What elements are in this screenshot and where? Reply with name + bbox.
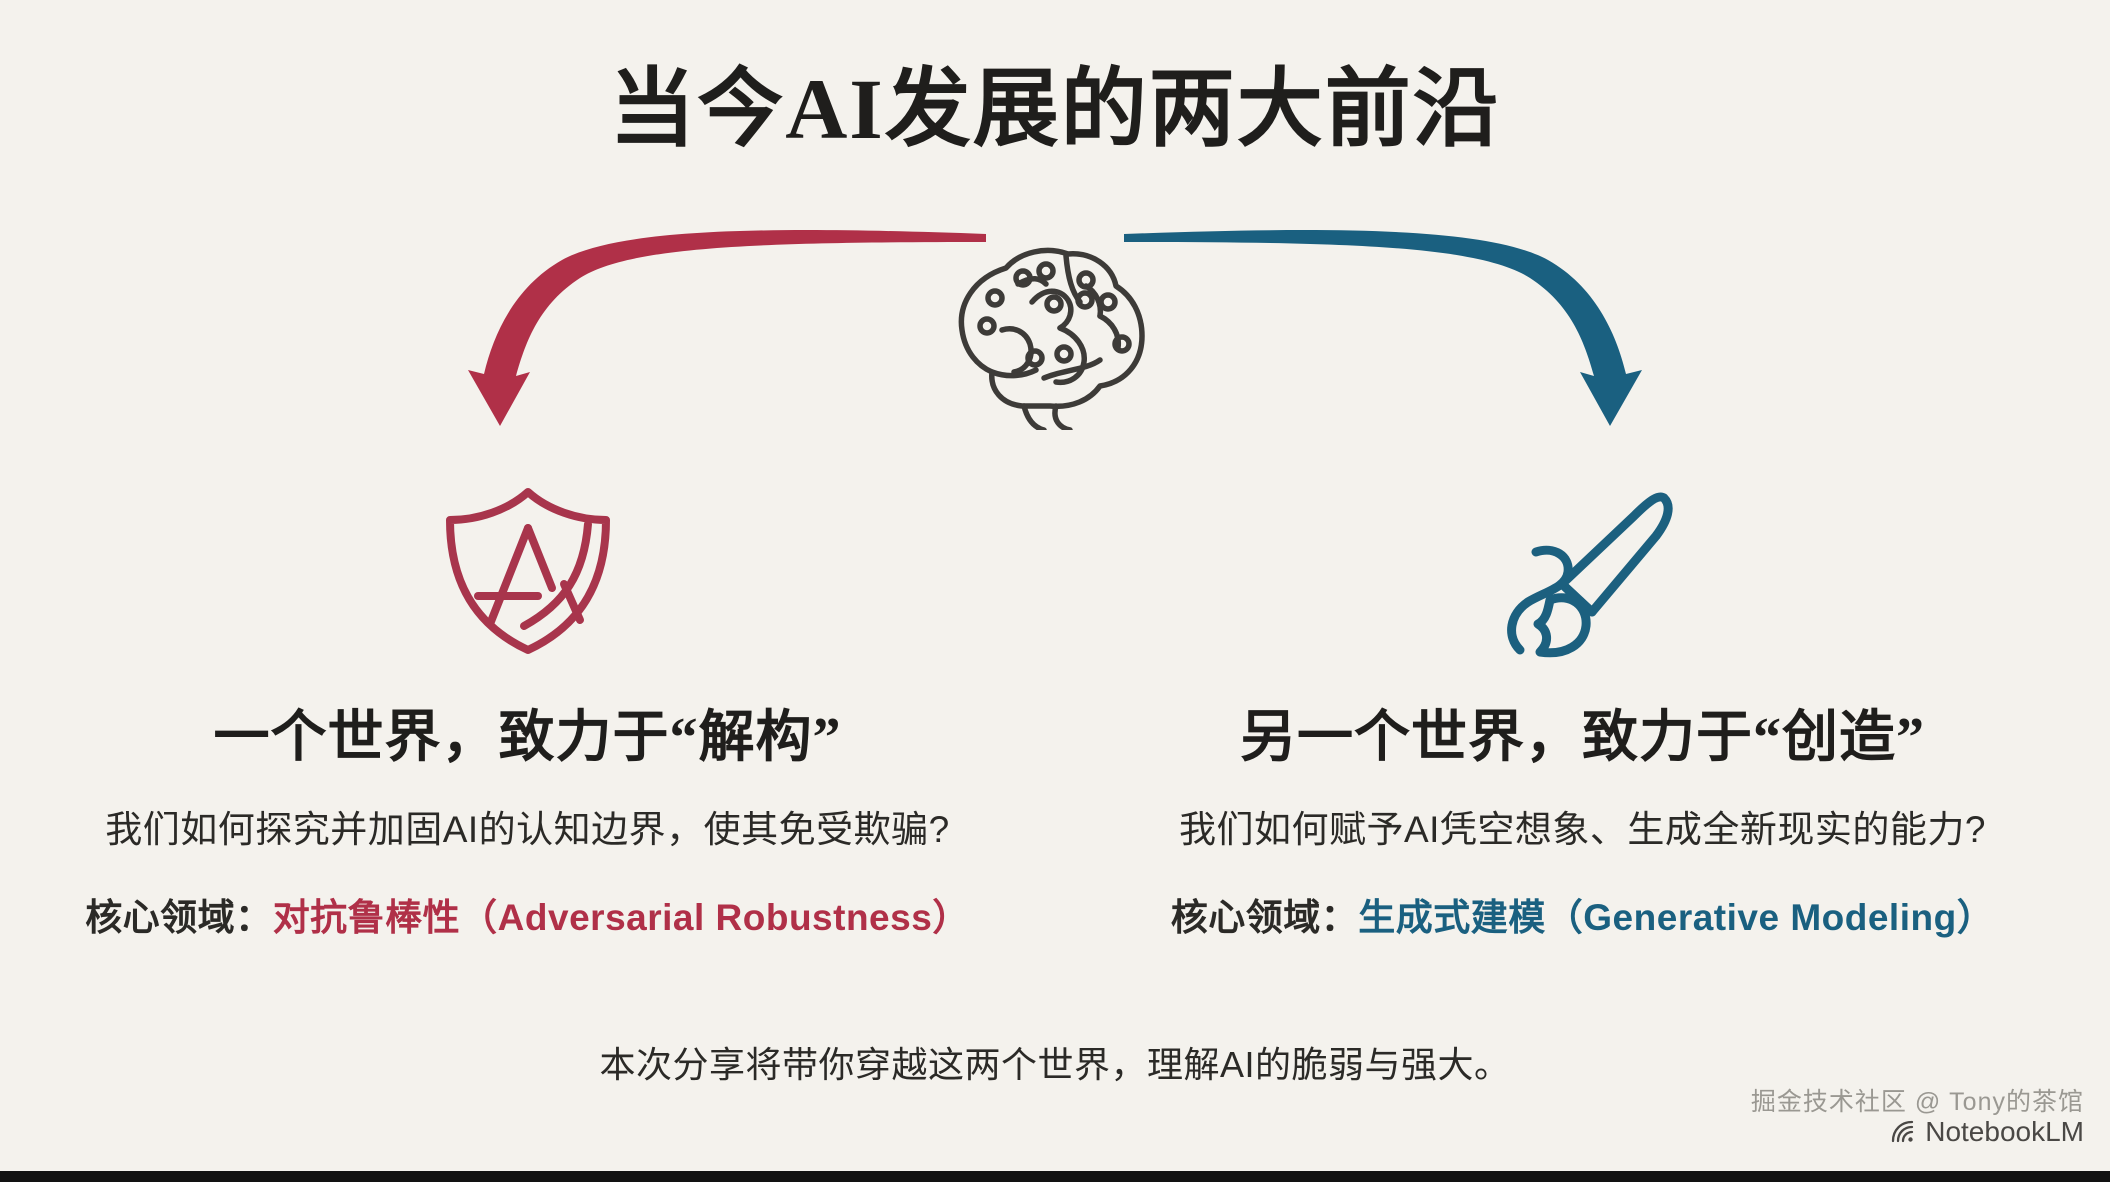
column-creation: 另一个世界，致力于“创造” 我们如何赋予AI凭空想象、生成全新现实的能力? 核心… (1055, 470, 2110, 941)
core-field-value: 生成式建模（Generative Modeling） (1358, 887, 1994, 941)
letterbox-bar (0, 1171, 2110, 1182)
column-heading: 另一个世界，致力于“创造” (1240, 692, 1925, 773)
column-question: 我们如何赋予AI凭空想象、生成全新现实的能力? (1179, 799, 1986, 853)
paintbrush-icon (1488, 470, 1678, 670)
column-core-field: 核心领域： 对抗鲁棒性（Adversarial Robustness） (85, 887, 970, 941)
notebooklm-label: NotebookLM (1925, 1116, 2084, 1148)
curved-arrow-left (430, 220, 990, 450)
notebooklm-badge: NotebookLM (1751, 1116, 2084, 1148)
curved-arrow-right (1120, 220, 1680, 450)
watermark: 掘金技术社区 @ Tony的茶馆 NotebookLM (1751, 1082, 2084, 1148)
core-field-label: 核心领域： (1171, 887, 1359, 941)
core-field-value: 对抗鲁棒性（Adversarial Robustness） (273, 887, 970, 941)
shield-icon (438, 470, 618, 670)
two-column-comparison: 一个世界，致力于“解构” 我们如何探究并加固AI的认知边界，使其免受欺骗? 核心… (0, 470, 2110, 941)
column-core-field: 核心领域： 生成式建模（Generative Modeling） (1171, 887, 1994, 941)
slide-canvas: 当今AI发展的两大前沿 (0, 0, 2110, 1182)
column-heading: 一个世界，致力于“解构” (214, 692, 842, 773)
column-question: 我们如何探究并加固AI的认知边界，使其免受欺骗? (105, 799, 950, 853)
slide-caption: 本次分享将带你穿越这两个世界，理解AI的脆弱与强大。 (0, 1036, 2110, 1088)
page-title: 当今AI发展的两大前沿 (0, 62, 2110, 157)
core-field-label: 核心领域： (85, 887, 273, 941)
column-deconstruction: 一个世界，致力于“解构” 我们如何探究并加固AI的认知边界，使其免受欺骗? 核心… (0, 470, 1055, 941)
notebooklm-spiral-icon (1890, 1119, 1916, 1145)
